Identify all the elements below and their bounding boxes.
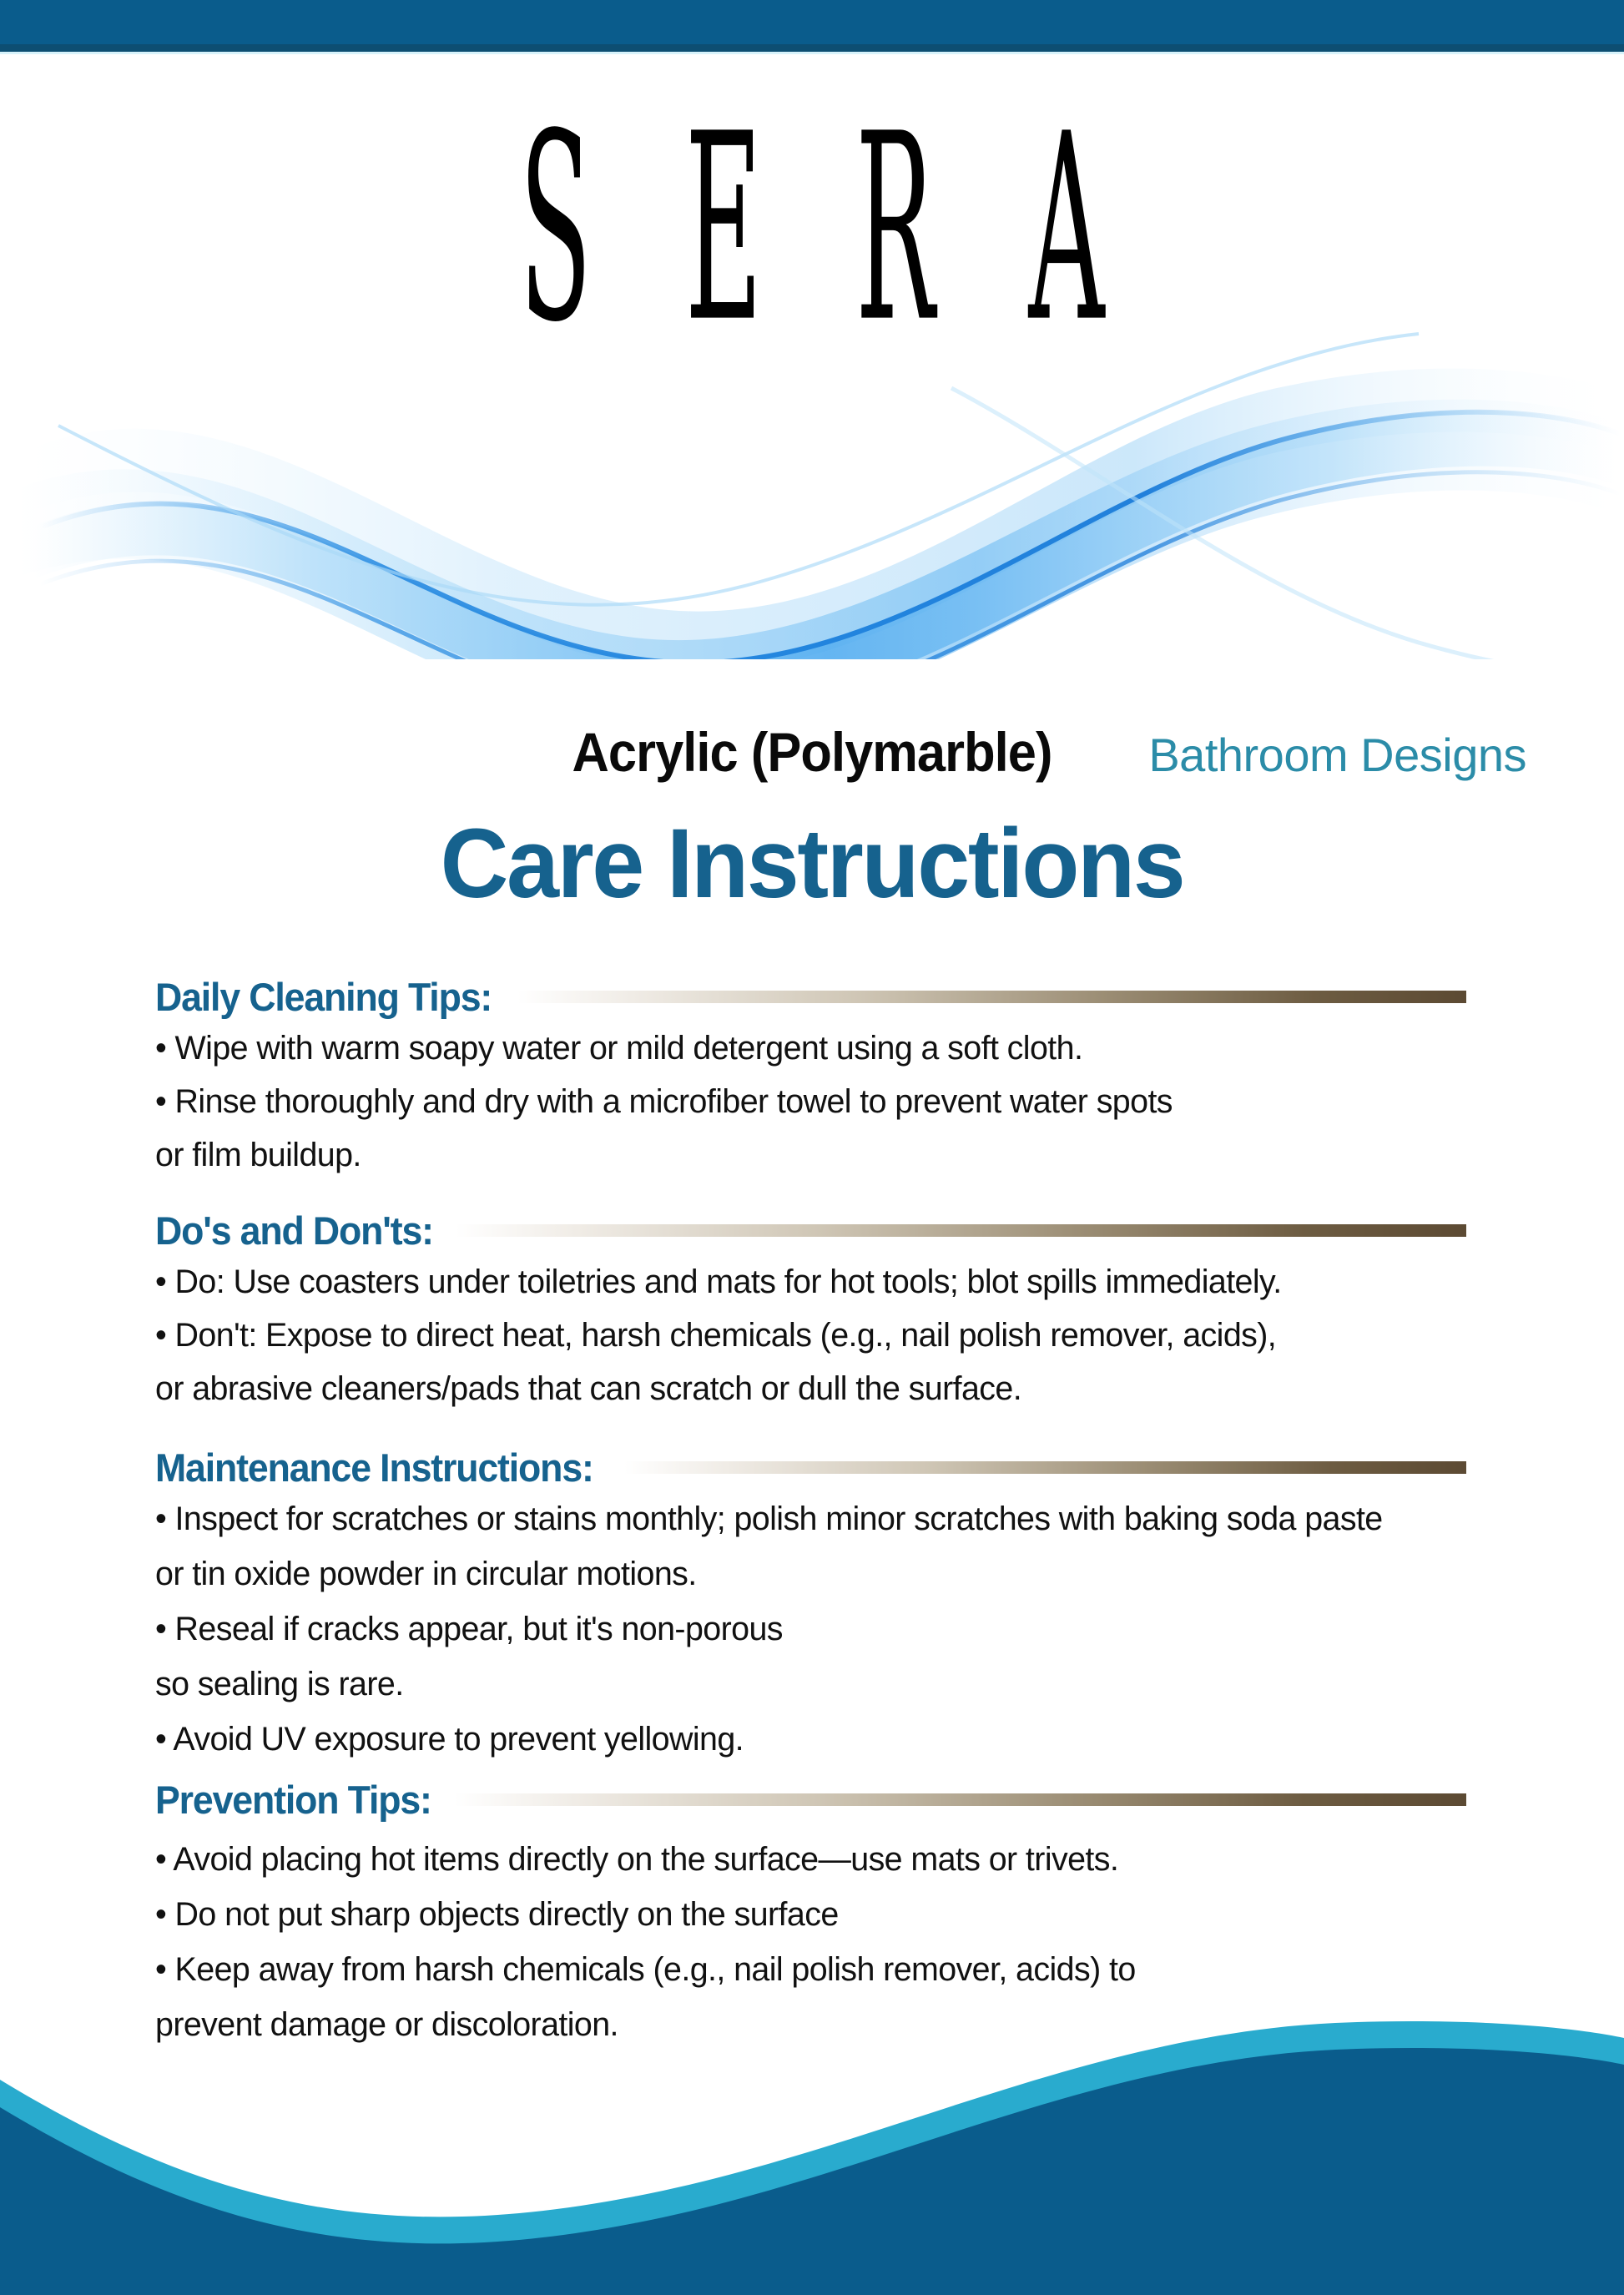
top-banner-bar	[0, 0, 1624, 52]
footer-wave-block	[0, 2020, 1624, 2295]
top-banner-shadow	[0, 44, 1624, 52]
wave-band-mid	[17, 400, 1615, 659]
wave-band-far	[25, 369, 1611, 659]
bullet-line: • Avoid placing hot items directly on th…	[155, 1843, 1487, 1876]
section-gradient-rule	[517, 991, 1466, 1003]
section-bullets: • Wipe with warm soapy water or mild det…	[155, 1031, 1507, 1172]
section-prevention-tips: Prevention Tips: • Avoid placing hot ite…	[155, 1778, 1507, 2041]
section-gradient-rule	[454, 1793, 1466, 1806]
section-maintenance-instructions: Maintenance Instructions: • Inspect for …	[155, 1445, 1507, 1756]
footer-wave-svg	[0, 2020, 1624, 2295]
section-title-daily-cleaning-tips: Daily Cleaning Tips:	[155, 977, 492, 1016]
bullet-line: • Keep away from harsh chemicals (e.g., …	[155, 1953, 1487, 1986]
section-header-row: Prevention Tips:	[155, 1778, 1466, 1821]
bullet-line: • Avoid UV exposure to prevent yellowing…	[155, 1723, 1487, 1756]
material-subtitle: Acrylic (Polymarble)	[57, 724, 1567, 779]
bullet-line: or abrasive cleaners/pads that can scrat…	[155, 1372, 1487, 1405]
bullet-line: • Don't: Expose to direct heat, harsh ch…	[155, 1319, 1487, 1352]
bullet-line: • Inspect for scratches or stains monthl…	[155, 1502, 1487, 1536]
brand-logo-wordmark: S E R A	[471, 100, 1152, 358]
brand-logo-block: S E R A	[0, 100, 1624, 701]
section-header-row: Maintenance Instructions:	[155, 1445, 1466, 1489]
top-banner-hairline	[0, 52, 1624, 54]
section-bullets: • Inspect for scratches or stains monthl…	[155, 1502, 1507, 1756]
section-daily-cleaning-tips: Daily Cleaning Tips: • Wipe with warm so…	[155, 975, 1507, 1172]
bullet-line: • Do not put sharp objects directly on t…	[155, 1898, 1487, 1931]
section-header-row: Do's and Don'ts:	[155, 1208, 1466, 1252]
wave-accent-line-bottom	[40, 472, 1621, 659]
page-title: Care Instructions	[33, 808, 1591, 921]
section-gradient-rule	[624, 1461, 1466, 1474]
wave-filament-lower	[951, 388, 1619, 659]
bullet-line: so sealing is rare.	[155, 1667, 1487, 1701]
sections-container: Daily Cleaning Tips: • Wipe with warm so…	[155, 975, 1507, 2063]
bullet-line: or tin oxide powder in circular motions.	[155, 1557, 1487, 1591]
section-title-maintenance-instructions: Maintenance Instructions:	[155, 1448, 593, 1487]
bullet-line: or film buildup.	[155, 1138, 1487, 1172]
section-dos-and-donts: Do's and Don'ts: • Do: Use coasters unde…	[155, 1208, 1507, 1405]
wave-accent-line-top	[40, 412, 1621, 659]
care-instructions-poster: S E R A	[0, 0, 1624, 2295]
section-title-prevention-tips: Prevention Tips:	[155, 1780, 431, 1819]
section-bullets: • Do: Use coasters under toiletries and …	[155, 1265, 1507, 1405]
bullet-line: • Rinse thoroughly and dry with a microf…	[155, 1085, 1487, 1118]
bullet-line: • Wipe with warm soapy water or mild det…	[155, 1031, 1487, 1065]
section-header-row: Daily Cleaning Tips:	[155, 975, 1466, 1018]
section-bullets: • Avoid placing hot items directly on th…	[155, 1843, 1507, 2041]
section-gradient-rule	[456, 1224, 1466, 1237]
bullet-line: • Do: Use coasters under toiletries and …	[155, 1265, 1487, 1299]
section-title-dos-and-donts: Do's and Don'ts:	[155, 1211, 433, 1250]
wave-band-main	[33, 411, 1619, 659]
bullet-line: • Reseal if cracks appear, but it's non-…	[155, 1612, 1487, 1646]
